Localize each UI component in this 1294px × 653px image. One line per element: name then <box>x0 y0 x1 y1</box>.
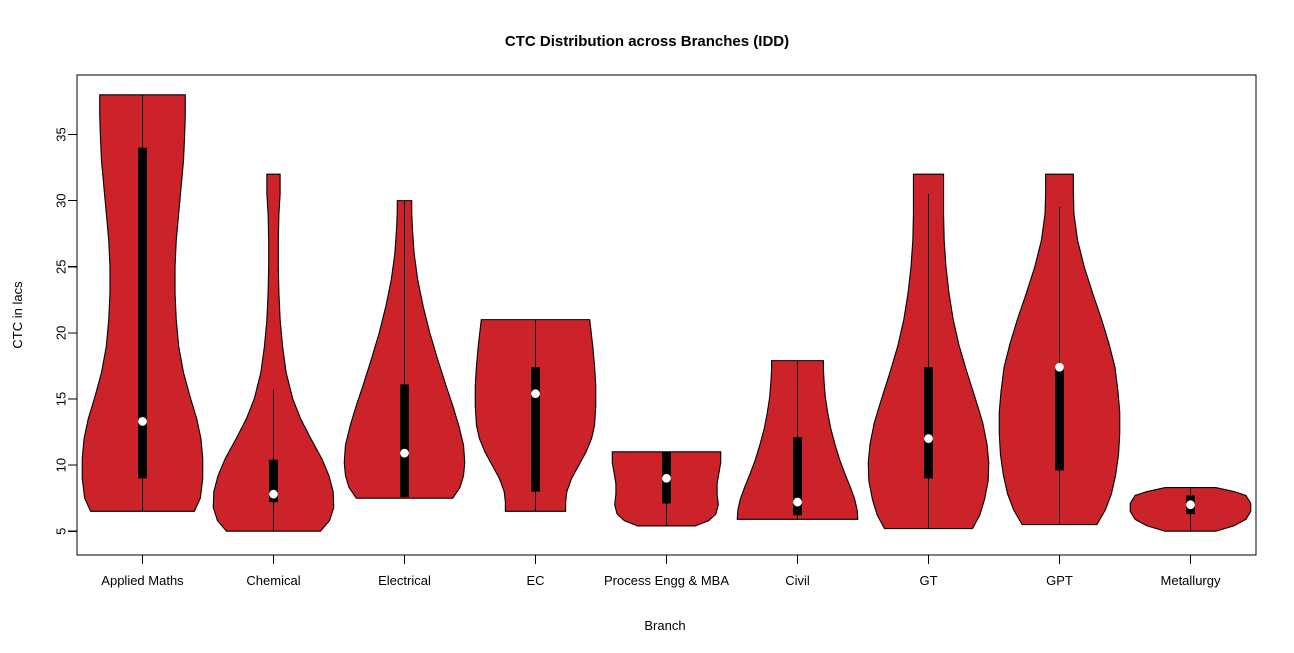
violin-process-engg-mba[interactable] <box>612 452 720 526</box>
y-tick-label: 30 <box>54 193 69 207</box>
violin-iqr-box <box>138 148 147 479</box>
y-tick-label: 5 <box>54 528 69 535</box>
x-tick-label-chemical: Chemical <box>246 573 300 588</box>
violin-median-dot <box>793 498 801 506</box>
violin-iqr-box <box>531 367 540 491</box>
x-tick-label-electrical: Electrical <box>378 573 431 588</box>
x-tick-label-gpt: GPT <box>1046 573 1073 588</box>
y-axis-title: CTC in lacs <box>10 281 25 349</box>
violin-median-dot <box>1186 501 1194 509</box>
x-tick-label-ec: EC <box>526 573 544 588</box>
violin-iqr-box <box>400 384 409 496</box>
violin-median-dot <box>531 389 539 397</box>
y-tick-label: 10 <box>54 458 69 472</box>
y-tick-label: 20 <box>54 326 69 340</box>
x-tick-label-metallurgy: Metallurgy <box>1161 573 1221 588</box>
x-tick-label-gt: GT <box>919 573 937 588</box>
violin-metallurgy[interactable] <box>1130 488 1251 532</box>
x-tick-label-applied-maths: Applied Maths <box>101 573 184 588</box>
violin-median-dot <box>662 474 670 482</box>
violin-iqr-box <box>924 367 933 478</box>
x-tick-label-process-engg-mba: Process Engg & MBA <box>604 573 729 588</box>
y-tick-label: 35 <box>54 127 69 141</box>
violin-iqr-box <box>1055 367 1064 470</box>
x-tick-label-civil: Civil <box>785 573 810 588</box>
y-tick-label: 15 <box>54 392 69 406</box>
chart-canvas: CTC Distribution across Branches (IDD) C… <box>0 0 1294 653</box>
violin-median-dot <box>138 417 146 425</box>
x-axis-title: Branch <box>644 618 685 633</box>
y-tick-label: 25 <box>54 260 69 274</box>
violin-median-dot <box>1055 363 1063 371</box>
violin-median-dot <box>400 449 408 457</box>
violin-median-dot <box>269 490 277 498</box>
violin-plot-figure: CTC Distribution across Branches (IDD) C… <box>0 0 1294 653</box>
violin-median-dot <box>924 434 932 442</box>
chart-title: CTC Distribution across Branches (IDD) <box>505 33 789 50</box>
